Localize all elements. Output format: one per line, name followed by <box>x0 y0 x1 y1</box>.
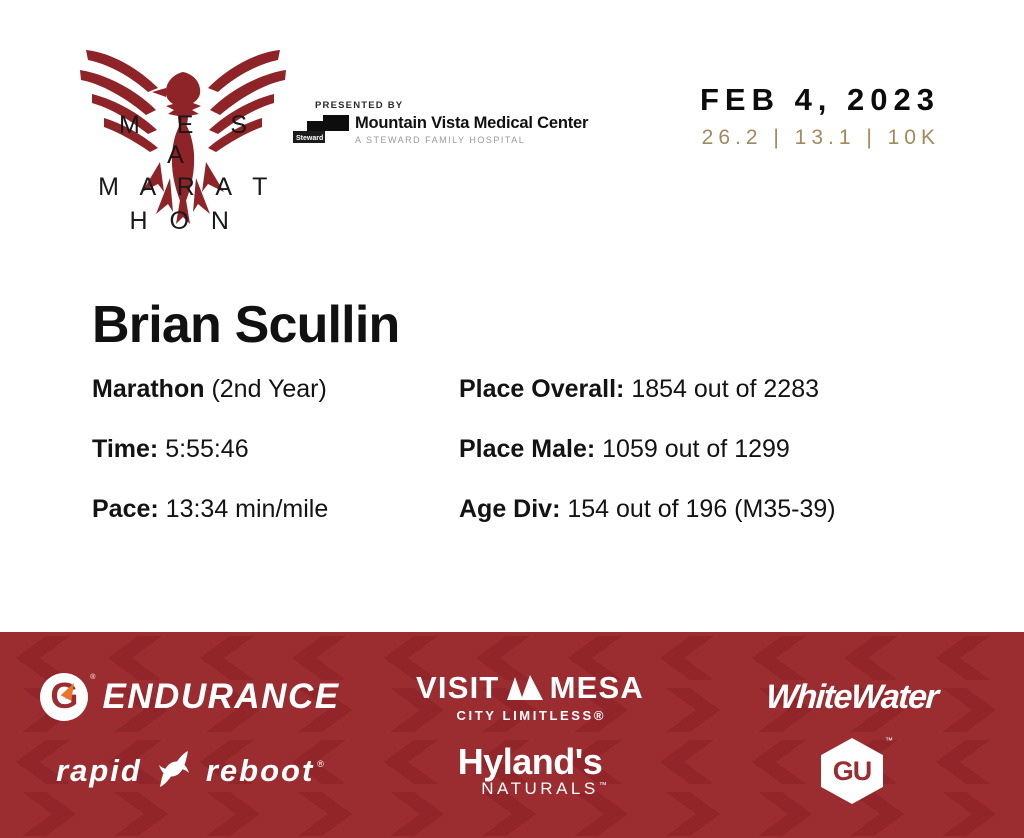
gatorade-g-icon: G ® <box>40 673 88 721</box>
rapid-reboot-text-reboot: reboot <box>206 753 314 789</box>
mesa-marathon-logo: M E S A M A R A T H O N <box>78 32 288 227</box>
stat-value: 1059 out of 1299 <box>602 435 790 463</box>
presented-by-block: PRESENTED BY Steward Mountain Vista Medi… <box>293 100 563 145</box>
sponsor-whitewater: WhiteWater <box>680 666 1024 728</box>
header: M E S A M A R A T H O N PRESENTED BY Ste… <box>0 0 1024 240</box>
stat-value: 5:55:46 <box>165 435 248 463</box>
visit-mesa-text-visit: VISIT <box>416 671 500 705</box>
stats-grid: Marathon (2nd Year) Place Overall: 1854 … <box>92 374 972 554</box>
stat-label: Marathon <box>92 375 205 403</box>
trademark-mark: ® <box>317 759 324 769</box>
event-distances: 26.2 | 13.1 | 10K <box>694 123 940 153</box>
sponsor-tagline: A STEWARD FAMILY HOSPITAL <box>355 135 588 145</box>
stat-value: (2nd Year) <box>211 375 326 403</box>
gatorade-endurance-text: ENDURANCE <box>102 677 339 717</box>
svg-text:Steward: Steward <box>296 135 323 142</box>
sponsor-hylands-naturals: Hyland's NATURALS™ <box>380 738 680 804</box>
sponsor-rapid-reboot: rapid reboot ® <box>0 738 380 804</box>
stat-place-overall: Place Overall: 1854 out of 2283 <box>459 374 819 404</box>
stat-label: Pace: <box>92 495 159 523</box>
sponsor-visit-mesa: VISIT MESA CITY LIMITLESS® <box>380 666 680 728</box>
sponsor-name: Mountain Vista Medical Center <box>355 114 588 132</box>
rapid-reboot-text-rapid: rapid <box>56 753 142 789</box>
runner-name: Brian Scullin <box>92 295 399 355</box>
hylands-tagline: NATURALS™ <box>478 779 610 799</box>
stat-age-division: Age Div: 154 out of 196 (M35-39) <box>459 494 836 524</box>
stat-value: 1854 out of 2283 <box>631 375 819 403</box>
stats-row: Marathon (2nd Year) Place Overall: 1854 … <box>92 374 972 434</box>
stats-row: Time: 5:55:46 Place Male: 1059 out of 12… <box>92 434 972 494</box>
stats-row: Pace: 13:34 min/mile Age Div: 154 out of… <box>92 494 972 554</box>
hylands-text: Hyland's <box>450 743 610 781</box>
sponsor-gu-energy: GU ™ <box>680 738 1024 804</box>
visit-mesa-tagline: CITY LIMITLESS® <box>416 708 644 723</box>
stat-pace: Pace: 13:34 min/mile <box>92 494 328 524</box>
stat-value: 154 out of 196 (M35-39) <box>567 495 835 523</box>
stat-race-type: Marathon (2nd Year) <box>92 374 327 404</box>
trademark-mark: ™ <box>885 736 893 745</box>
stat-label: Age Div: <box>459 495 560 523</box>
sponsor-footer: G ® ENDURANCE VISIT <box>0 632 1024 838</box>
stat-label: Time: <box>92 435 158 463</box>
presented-by-label: PRESENTED BY <box>315 100 563 111</box>
stat-place-male: Place Male: 1059 out of 1299 <box>459 434 790 464</box>
stat-label: Place Male: <box>459 435 595 463</box>
stat-label: Place Overall: <box>459 375 624 403</box>
sponsor-gatorade-endurance: G ® ENDURANCE <box>0 666 380 728</box>
gu-hexagon-icon: GU <box>821 738 883 804</box>
rapid-reboot-swoosh-icon <box>150 745 198 798</box>
mountain-peaks-icon <box>506 675 544 701</box>
event-date-block: FEB 4, 2023 26.2 | 13.1 | 10K <box>694 82 940 153</box>
visit-mesa-text-mesa: MESA <box>550 671 644 705</box>
phoenix-icon <box>78 32 288 227</box>
hylands-tagline-text: NATURALS <box>481 779 598 798</box>
whitewater-text: WhiteWater <box>765 678 939 716</box>
gu-text: GU <box>833 757 872 785</box>
sponsor-row-2: rapid reboot ® Hyland's <box>0 738 1024 804</box>
steward-logo-icon: Steward <box>293 115 351 145</box>
event-date: FEB 4, 2023 <box>694 82 940 118</box>
stat-time: Time: 5:55:46 <box>92 434 249 464</box>
sponsor-row-1: G ® ENDURANCE VISIT <box>0 666 1024 728</box>
stat-value: 13:34 min/mile <box>166 495 329 523</box>
trademark-mark: ® <box>90 674 95 681</box>
trademark-mark: ™ <box>599 780 611 789</box>
